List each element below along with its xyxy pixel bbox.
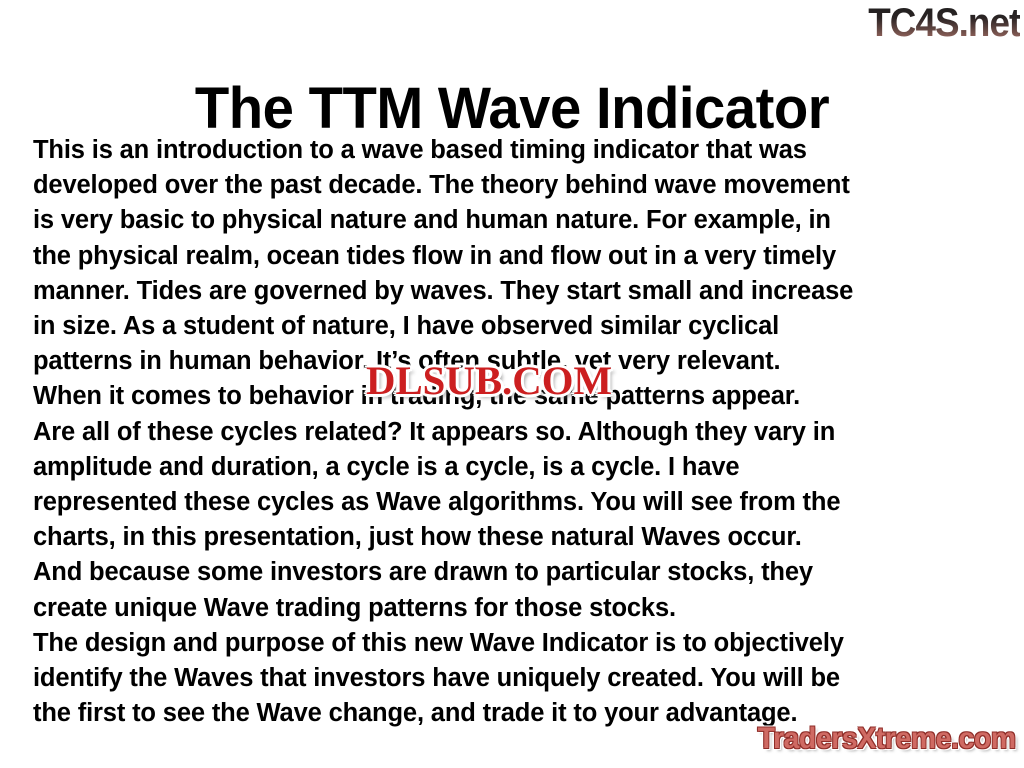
brand-logo-tradersxtreme: TradersXtreme.com (758, 722, 1016, 756)
text-line: create unique Wave trading patterns for … (33, 591, 1008, 626)
page-title: The TTM Wave Indicator (15, 77, 1008, 141)
text-line: And because some investors are drawn to … (33, 555, 1008, 590)
paragraph-2: Are all of these cycles related? It appe… (33, 415, 1008, 626)
brand-logo-tc4s: TC4S.net (868, 1, 1020, 45)
text-line: represented these cycles as Wave algorit… (33, 485, 1008, 520)
text-line: identify the Waves that investors have u… (33, 661, 1008, 696)
text-line: manner. Tides are governed by waves. The… (33, 274, 1008, 309)
text-line: is very basic to physical nature and hum… (33, 203, 1008, 238)
text-line: in size. As a student of nature, I have … (33, 309, 1008, 344)
dlsub-watermark: DLSUB.COM (366, 360, 612, 402)
text-line: charts, in this presentation, just how t… (33, 520, 1008, 555)
text-line: The design and purpose of this new Wave … (33, 626, 1008, 661)
presentation-slide: TC4S.net The TTM Wave Indicator This is … (0, 0, 1024, 768)
text-line: This is an introduction to a wave based … (33, 133, 1008, 168)
text-line: Are all of these cycles related? It appe… (33, 415, 1008, 450)
text-line: developed over the past decade. The theo… (33, 168, 1008, 203)
body-copy: This is an introduction to a wave based … (33, 133, 1008, 731)
text-line: the physical realm, ocean tides flow in … (33, 239, 1008, 274)
text-line: amplitude and duration, a cycle is a cyc… (33, 450, 1008, 485)
paragraph-3: The design and purpose of this new Wave … (33, 626, 1008, 732)
